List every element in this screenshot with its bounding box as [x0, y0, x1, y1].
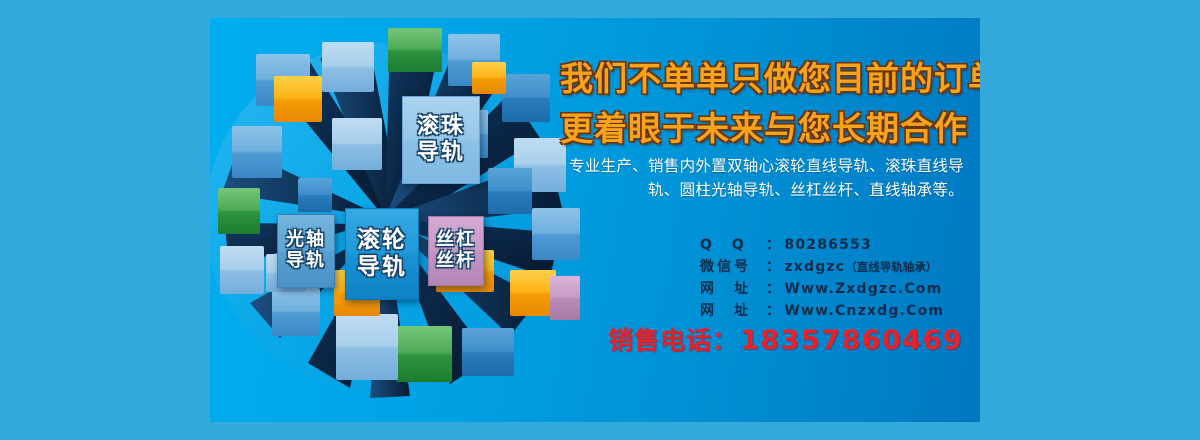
headline-line-2: 更着眼于未来与您长期合作 [560, 102, 980, 150]
qq-separator: ： [766, 234, 780, 254]
contact-info-block: Q Q ： 80286553 微信号 ： zxdgzc （直线导轨轴承） 网 址… [700, 234, 944, 322]
contact-row-qq: Q Q ： 80286553 [700, 234, 944, 256]
website-2-label: 网 址 [700, 300, 766, 320]
product-label-roller-guide[interactable]: 滚轮 导轨 [345, 208, 419, 300]
wechat-note: （直线导轨轴承） [845, 259, 937, 275]
product-label-line1: 滚珠 [417, 114, 465, 140]
website-2-separator: ： [766, 300, 780, 320]
product-label-line2: 丝杆 [436, 251, 476, 272]
banner-copy: 我们不单单只做您目前的订单 更着眼于未来与您长期合作 专业生产、销售内外置双轴心… [550, 18, 980, 422]
promo-banner: 滚珠 导轨 滚轮 导轨 光轴 导轨 丝杠 丝杆 我们不单单只做您目前的订单 更着… [210, 18, 980, 422]
contact-row-wechat: 微信号 ： zxdgzc （直线导轨轴承） [700, 256, 944, 278]
headline-line-1: 我们不单单只做您目前的订单 [560, 52, 980, 100]
wechat-label: 微信号 [700, 256, 766, 276]
page-root: 滚珠 导轨 滚轮 导轨 光轴 导轨 丝杠 丝杆 我们不单单只做您目前的订单 更着… [0, 0, 1200, 440]
wechat-value[interactable]: zxdgzc [784, 259, 845, 275]
website-1-url[interactable]: Www.Zxdgzc.Com [784, 281, 942, 297]
website-2-url[interactable]: Www.Cnzxdg.Com [784, 303, 944, 319]
product-label-line1: 光轴 [286, 230, 326, 251]
product-label-ball-guide[interactable]: 滚珠 导轨 [402, 96, 480, 184]
sales-phone-label: 销售电话： [608, 326, 738, 355]
product-label-line2: 导轨 [286, 251, 326, 272]
website-1-label: 网 址 [700, 278, 766, 298]
sales-phone-number[interactable]: 18357860469 [740, 325, 963, 356]
product-label-shaft-guide[interactable]: 光轴 导轨 [277, 214, 335, 288]
product-label-lead-screw[interactable]: 丝杠 丝杆 [428, 216, 484, 286]
contact-row-website-1: 网 址 ： Www.Zxdgzc.Com [700, 278, 944, 300]
sales-phone-block[interactable]: 销售电话：18357860469 [608, 321, 963, 357]
wechat-separator: ： [766, 256, 780, 276]
website-1-separator: ： [766, 278, 780, 298]
product-label-line2: 导轨 [417, 140, 465, 166]
qq-value[interactable]: 80286553 [784, 237, 872, 253]
product-label-line1: 滚轮 [357, 227, 407, 254]
product-label-line2: 导轨 [357, 254, 407, 281]
contact-row-website-2: 网 址 ： Www.Cnzxdg.Com [700, 300, 944, 322]
qq-label: Q Q [700, 234, 766, 254]
product-description: 专业生产、销售内外置双轴心滚轮直线导轨、滚珠直线导轨、圆柱光轴导轨、丝杠丝杆、直… [564, 154, 964, 202]
product-label-line1: 丝杠 [436, 230, 476, 251]
